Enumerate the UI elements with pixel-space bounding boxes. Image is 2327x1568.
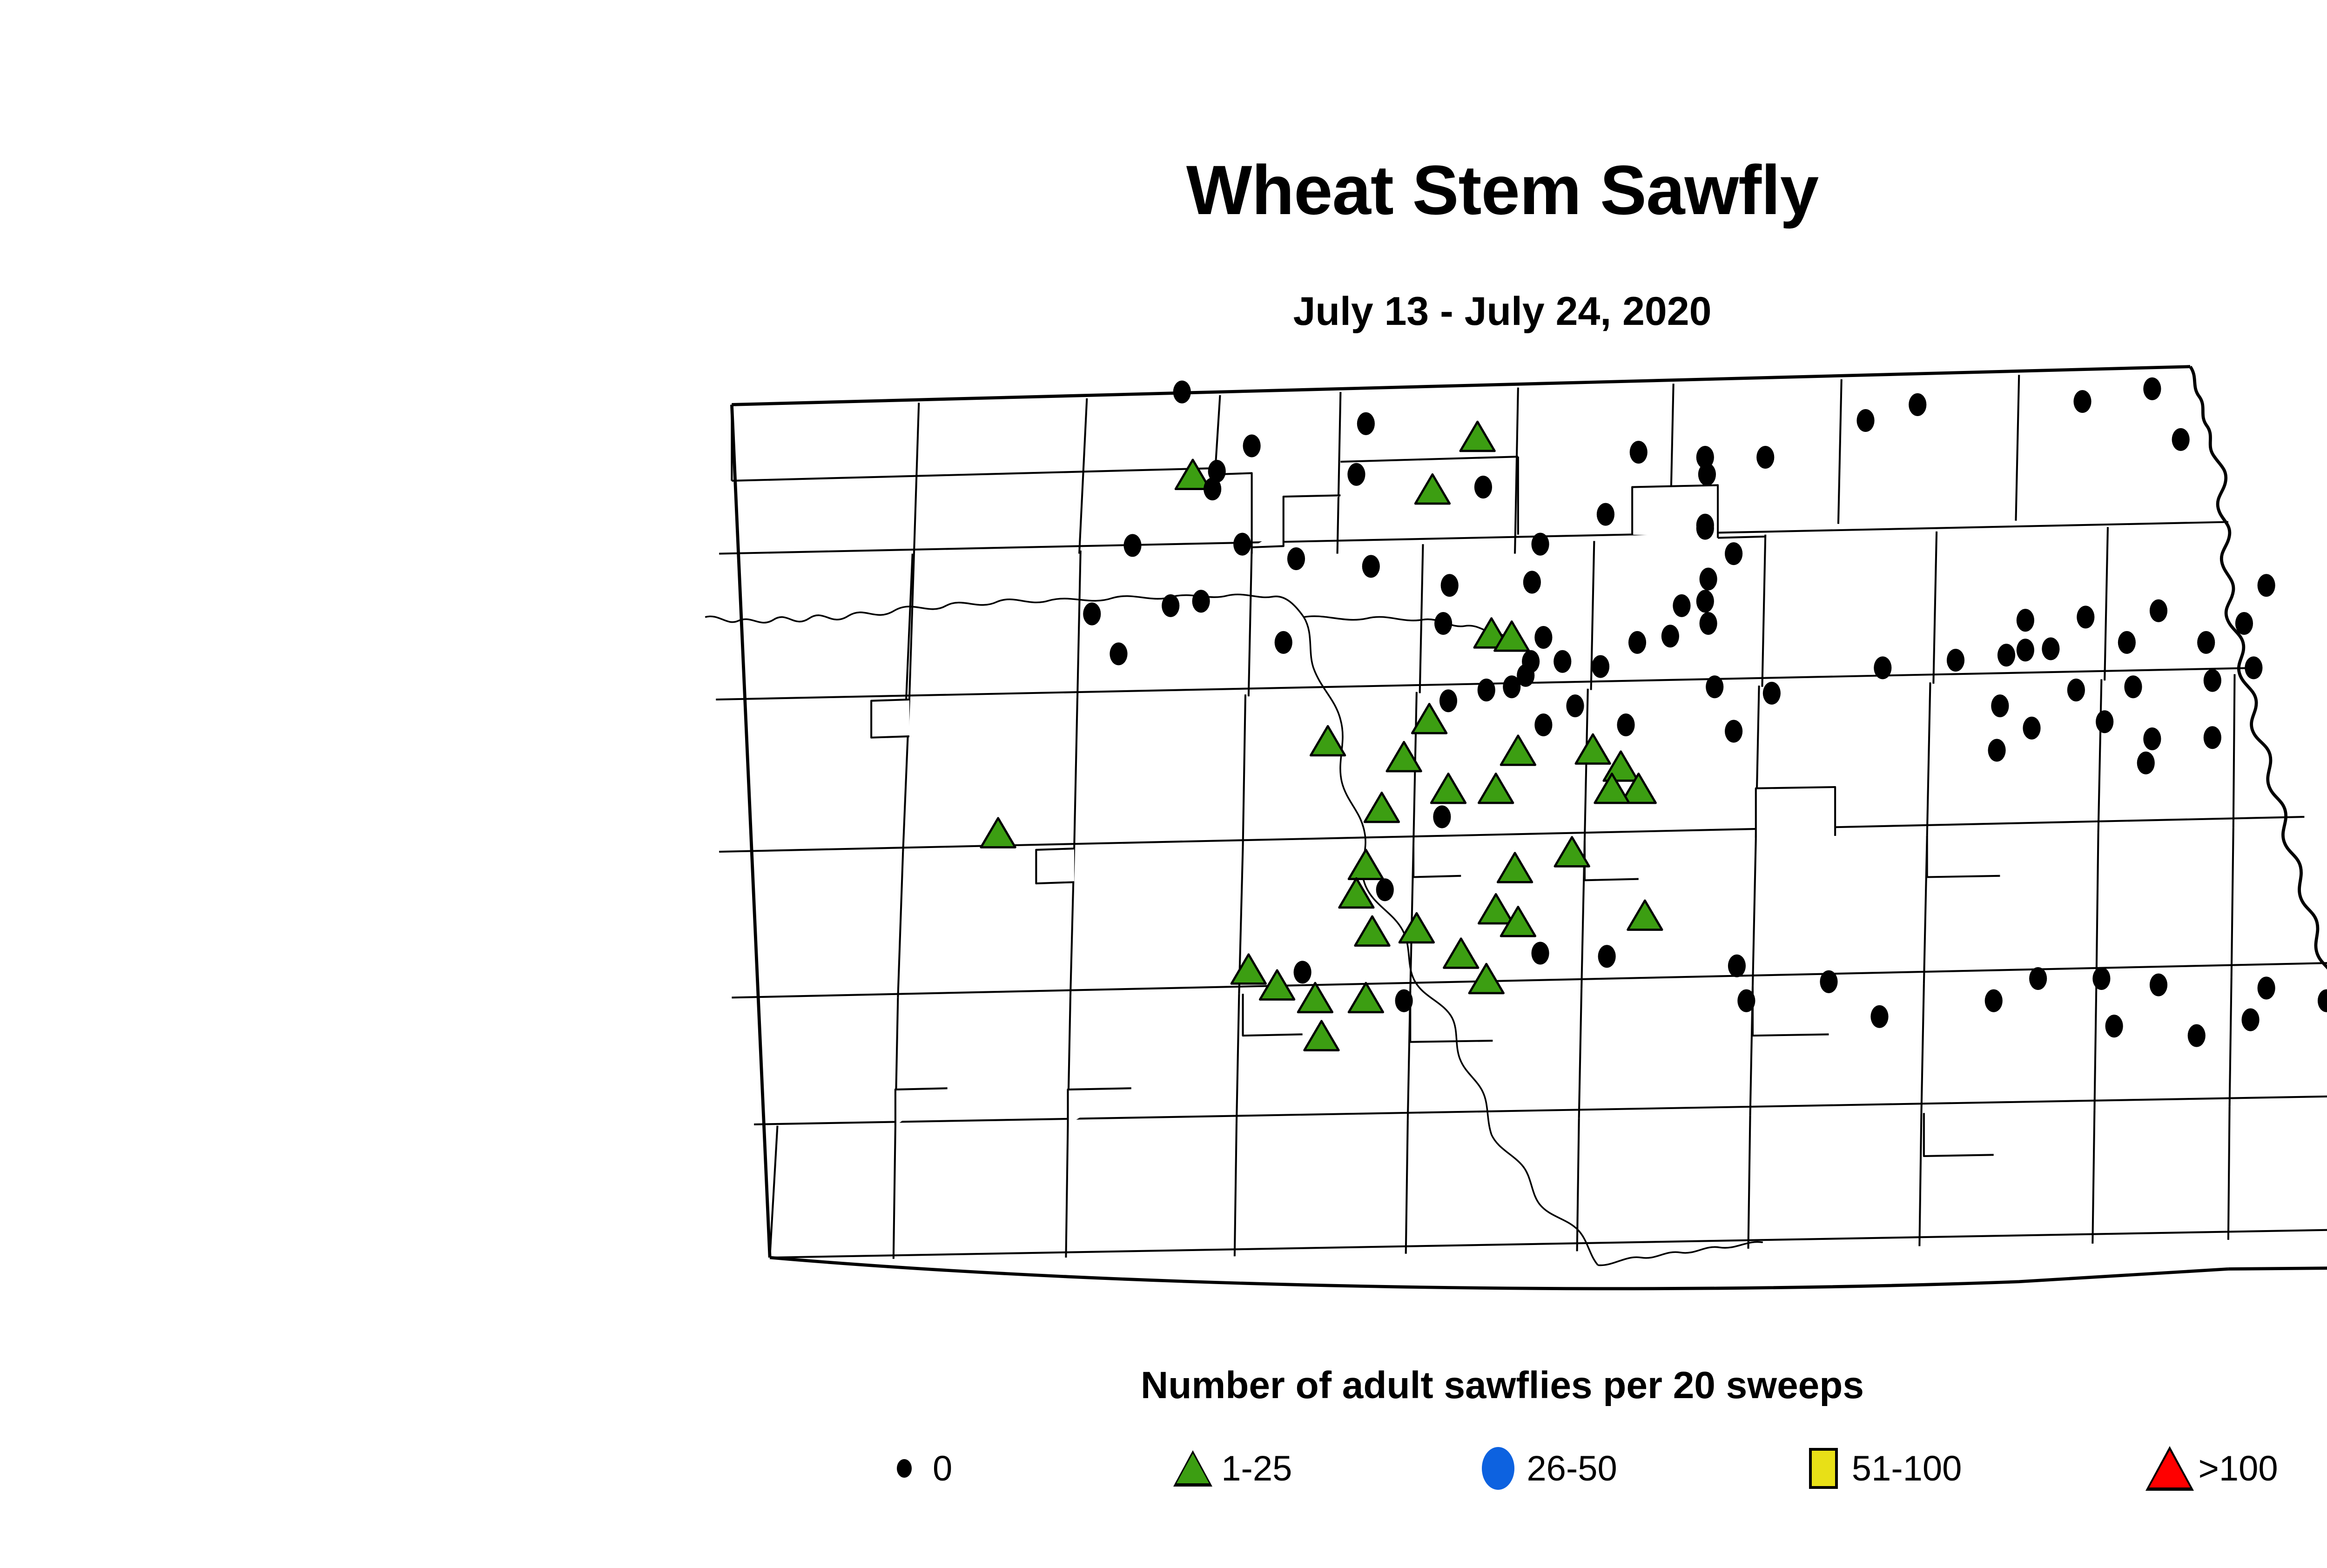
state-outline bbox=[732, 367, 2327, 1289]
map-marker-dot[interactable] bbox=[1534, 626, 1552, 649]
map-marker-triangle[interactable] bbox=[1305, 1021, 1339, 1050]
map-marker-dot[interactable] bbox=[1661, 625, 1679, 647]
map-marker-dot[interactable] bbox=[2245, 656, 2262, 679]
zero-dot-icon bbox=[884, 1443, 924, 1494]
map-marker-dot[interactable] bbox=[1439, 689, 1457, 712]
map-marker-dot[interactable] bbox=[1441, 574, 1459, 597]
map-marker-dot[interactable] bbox=[1434, 612, 1452, 635]
yellow-square-icon bbox=[1803, 1443, 1843, 1494]
map-marker-triangle[interactable] bbox=[1501, 736, 1535, 765]
map-marker-dot[interactable] bbox=[1725, 542, 1742, 565]
map-marker-dot[interactable] bbox=[1474, 476, 1492, 498]
legend-item-2[interactable]: 26-50 bbox=[1478, 1443, 1617, 1494]
map-marker-triangle[interactable] bbox=[981, 818, 1016, 848]
map-marker-dot[interactable] bbox=[1173, 381, 1191, 404]
map-marker-dot[interactable] bbox=[1395, 989, 1413, 1012]
map-marker-triangle[interactable] bbox=[1412, 704, 1446, 734]
map-marker-dot[interactable] bbox=[2092, 967, 2110, 990]
map-marker-triangle[interactable] bbox=[1479, 894, 1513, 923]
legend-label-0: 0 bbox=[933, 1448, 952, 1489]
map-marker-dot[interactable] bbox=[2077, 606, 2094, 628]
map-marker-dot[interactable] bbox=[2029, 967, 2047, 990]
map-marker-dot[interactable] bbox=[2197, 631, 2215, 654]
map-marker-dot[interactable] bbox=[2042, 637, 2059, 660]
map-marker-dot[interactable] bbox=[1698, 463, 1716, 486]
map-marker-dot[interactable] bbox=[2137, 752, 2155, 774]
map-marker-dot[interactable] bbox=[1110, 642, 1127, 665]
map-marker-dot[interactable] bbox=[1856, 409, 1874, 432]
map-marker-dot[interactable] bbox=[1362, 555, 1380, 578]
legend-label-3: 51-100 bbox=[1852, 1448, 1962, 1489]
map-marker-dot[interactable] bbox=[1531, 533, 1549, 556]
map-marker-triangle[interactable] bbox=[1365, 793, 1399, 822]
north-dakota-map[interactable] bbox=[689, 344, 2327, 1359]
map-marker-dot[interactable] bbox=[2073, 390, 2091, 413]
map-marker-dot[interactable] bbox=[1123, 534, 1141, 557]
map-marker-dot[interactable] bbox=[1554, 650, 1571, 673]
map-marker-dot[interactable] bbox=[1700, 612, 1717, 635]
data-markers[interactable] bbox=[981, 377, 2327, 1050]
map-marker-triangle[interactable] bbox=[1444, 939, 1478, 968]
map-marker-dot[interactable] bbox=[2172, 428, 2190, 451]
map-marker-dot[interactable] bbox=[1243, 434, 1261, 457]
map-marker-dot[interactable] bbox=[1728, 955, 1746, 977]
map-marker-triangle[interactable] bbox=[1311, 726, 1345, 755]
map-marker-dot[interactable] bbox=[1566, 694, 1584, 717]
map-marker-dot[interactable] bbox=[2067, 679, 2085, 701]
map-marker-dot[interactable] bbox=[1820, 970, 1837, 993]
map-marker-triangle[interactable] bbox=[1479, 774, 1513, 803]
map-marker-dot[interactable] bbox=[1673, 594, 1690, 617]
map-marker-dot[interactable] bbox=[1478, 679, 1495, 701]
map-marker-dot[interactable] bbox=[2096, 710, 2113, 733]
map-marker-dot[interactable] bbox=[1503, 675, 1520, 698]
map-marker-dot[interactable] bbox=[2143, 377, 2161, 400]
map-marker-triangle[interactable] bbox=[1498, 853, 1532, 882]
map-marker-dot[interactable] bbox=[1357, 412, 1375, 435]
map-marker-dot[interactable] bbox=[1696, 590, 1714, 612]
map-marker-dot[interactable] bbox=[1162, 594, 1179, 617]
map-marker-dot[interactable] bbox=[1997, 644, 2015, 666]
map-marker-triangle[interactable] bbox=[1298, 983, 1332, 1012]
map-marker-triangle[interactable] bbox=[1604, 752, 1638, 781]
map-marker-dot[interactable] bbox=[1700, 568, 1717, 591]
map-marker-dot[interactable] bbox=[1909, 393, 1926, 416]
map-marker-triangle[interactable] bbox=[1349, 850, 1383, 879]
map-marker-dot[interactable] bbox=[1725, 720, 1742, 743]
map-marker-triangle[interactable] bbox=[1355, 916, 1390, 946]
map-marker-dot[interactable] bbox=[1347, 463, 1365, 486]
legend: 0 1-25 26-50 51-100 >100 bbox=[0, 1443, 2327, 1494]
map-marker-dot[interactable] bbox=[1531, 942, 1549, 964]
map-marker-dot[interactable] bbox=[1756, 446, 1774, 469]
map-marker-dot[interactable] bbox=[1376, 878, 1394, 901]
map-marker-dot[interactable] bbox=[2204, 726, 2221, 749]
map-marker-triangle[interactable] bbox=[1460, 422, 1495, 451]
map-marker-dot[interactable] bbox=[1991, 694, 2009, 717]
map-marker-dot[interactable] bbox=[2241, 1009, 2259, 1031]
legend-item-0[interactable]: 0 bbox=[884, 1443, 952, 1494]
map-marker-dot[interactable] bbox=[2105, 1015, 2123, 1037]
map-marker-triangle[interactable] bbox=[1399, 913, 1434, 942]
map-marker-dot[interactable] bbox=[2258, 574, 2275, 597]
map-marker-dot[interactable] bbox=[1617, 713, 1634, 736]
map-marker-triangle[interactable] bbox=[1628, 901, 1662, 930]
map-marker-dot[interactable] bbox=[2017, 609, 2034, 632]
map-marker-dot[interactable] bbox=[2118, 631, 2136, 654]
map-marker-triangle[interactable] bbox=[1349, 983, 1383, 1012]
legend-item-4[interactable]: >100 bbox=[2150, 1443, 2278, 1494]
map-marker-dot[interactable] bbox=[1696, 517, 1714, 540]
map-marker-dot[interactable] bbox=[2258, 976, 2275, 999]
page-subtitle: July 13 - July 24, 2020 bbox=[0, 289, 2327, 335]
missouri-river-outline bbox=[705, 594, 1503, 1134]
map-marker-dot[interactable] bbox=[1294, 961, 1311, 983]
legend-label-1: 1-25 bbox=[1221, 1448, 1292, 1489]
legend-item-1[interactable]: 1-25 bbox=[1173, 1443, 1292, 1494]
map-marker-dot[interactable] bbox=[1706, 675, 1723, 698]
map-marker-dot[interactable] bbox=[2150, 599, 2167, 622]
map-marker-dot[interactable] bbox=[1598, 945, 1616, 968]
map-marker-dot[interactable] bbox=[2235, 612, 2253, 635]
map-marker-dot[interactable] bbox=[2318, 989, 2327, 1012]
map-svg[interactable] bbox=[689, 344, 2327, 1359]
map-marker-triangle[interactable] bbox=[1415, 474, 1450, 504]
map-marker-dot[interactable] bbox=[1592, 655, 1609, 678]
page-title: Wheat Stem Sawfly bbox=[0, 154, 2327, 227]
map-marker-dot[interactable] bbox=[1083, 603, 1101, 626]
map-marker-dot[interactable] bbox=[1985, 989, 2003, 1012]
legend-label-2: 26-50 bbox=[1527, 1448, 1617, 1489]
sawfly-map-page: Wheat Stem Sawfly July 13 - July 24, 202… bbox=[0, 0, 2327, 1568]
map-marker-dot[interactable] bbox=[2023, 717, 2040, 740]
county-boundaries bbox=[716, 367, 2327, 1259]
green-triangle-icon bbox=[1173, 1443, 1213, 1494]
map-marker-dot[interactable] bbox=[1763, 682, 1781, 705]
map-marker-triangle[interactable] bbox=[1431, 774, 1466, 803]
map-marker-dot[interactable] bbox=[1275, 631, 1292, 654]
map-marker-dot[interactable] bbox=[1204, 478, 1221, 500]
lower-river-outline bbox=[1492, 1135, 1763, 1265]
map-marker-dot[interactable] bbox=[1947, 649, 1964, 672]
map-marker-triangle[interactable] bbox=[1576, 734, 1610, 764]
legend-label-4: >100 bbox=[2198, 1448, 2278, 1489]
map-marker-dot[interactable] bbox=[1433, 806, 1451, 828]
map-marker-dot[interactable] bbox=[1192, 590, 1210, 612]
map-marker-dot[interactable] bbox=[2204, 669, 2221, 692]
map-marker-dot[interactable] bbox=[1233, 533, 1251, 556]
map-marker-dot[interactable] bbox=[2124, 675, 2142, 698]
red-triangle-icon bbox=[2150, 1443, 2190, 1494]
map-marker-dot[interactable] bbox=[1630, 441, 1648, 464]
map-marker-triangle[interactable] bbox=[1231, 955, 1266, 984]
map-marker-dot[interactable] bbox=[1287, 547, 1305, 570]
map-marker-dot[interactable] bbox=[1597, 503, 1614, 526]
legend-title: Number of adult sawflies per 20 sweeps bbox=[0, 1364, 2327, 1407]
map-marker-dot[interactable] bbox=[2017, 639, 2034, 661]
map-marker-dot[interactable] bbox=[1737, 989, 1755, 1012]
map-marker-dot[interactable] bbox=[1523, 571, 1541, 593]
blue-circle-icon bbox=[1478, 1443, 1518, 1494]
map-marker-dot[interactable] bbox=[1534, 713, 1552, 736]
legend-item-3[interactable]: 51-100 bbox=[1803, 1443, 1962, 1494]
map-marker-dot[interactable] bbox=[2143, 727, 2161, 750]
map-marker-dot[interactable] bbox=[1988, 739, 2005, 761]
map-marker-dot[interactable] bbox=[2150, 974, 2167, 996]
map-marker-dot[interactable] bbox=[1870, 1005, 1888, 1028]
map-marker-dot[interactable] bbox=[1874, 656, 1891, 679]
map-marker-dot[interactable] bbox=[1628, 631, 1646, 654]
map-marker-dot[interactable] bbox=[2188, 1024, 2206, 1047]
